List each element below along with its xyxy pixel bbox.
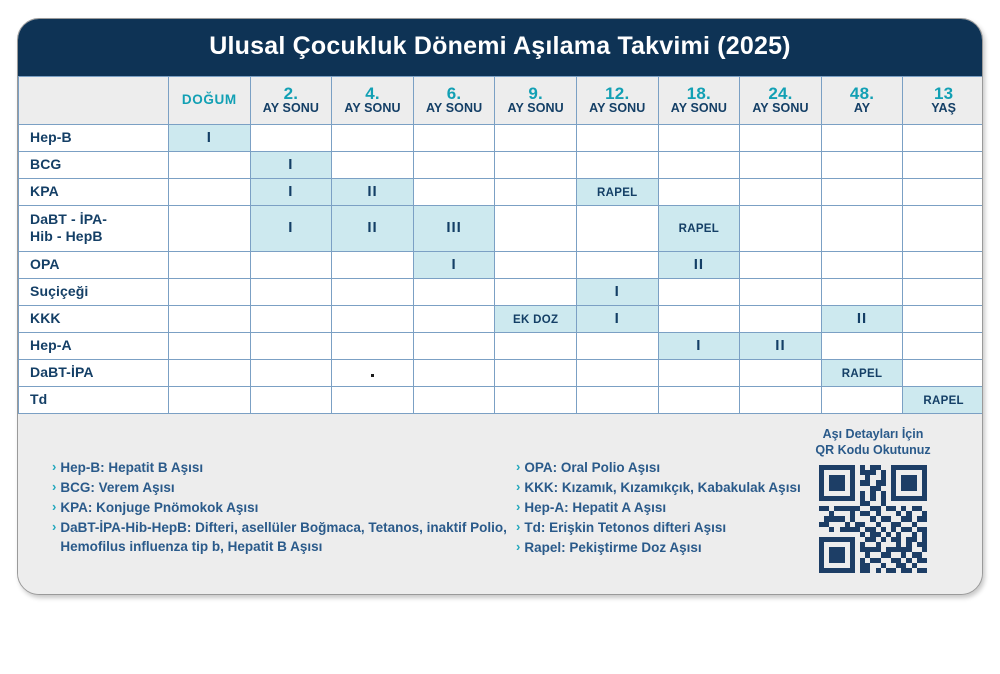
schedule-card: Ulusal Çocukluk Dönemi Aşılama Takvimi (… <box>17 18 983 595</box>
column-header-number: 6. <box>414 85 495 103</box>
empty-cell <box>169 251 251 278</box>
empty-cell <box>658 305 740 332</box>
column-header-unit: AY SONU <box>414 102 495 115</box>
empty-cell <box>576 251 658 278</box>
column-header-2-ay: 2.AY SONU <box>250 76 332 124</box>
empty-cell <box>332 124 414 151</box>
empty-cell <box>250 332 332 359</box>
empty-cell <box>821 205 903 251</box>
rapel-marker: RAPEL <box>923 395 963 407</box>
empty-cell <box>250 359 332 386</box>
legend-item: ›Hep-B: Hepatit B Aşısı <box>52 458 510 477</box>
rapel-marker: RAPEL <box>679 223 719 235</box>
empty-cell <box>495 359 577 386</box>
legend-item: ›Td: Erişkin Tetonos difteri Aşısı <box>516 518 846 537</box>
dose-cell: I <box>169 124 251 151</box>
vaccine-name-cell: DaBT - İPA-Hib - HepB <box>19 205 169 251</box>
empty-cell <box>169 359 251 386</box>
dose-marker: I <box>207 129 212 146</box>
empty-cell <box>413 124 495 151</box>
dose-cell: II <box>658 251 740 278</box>
table-header-corner <box>19 76 169 124</box>
column-header-unit: AY SONU <box>495 102 576 115</box>
dose-marker: II <box>857 310 867 327</box>
empty-cell <box>658 386 740 413</box>
dose-marker: I <box>615 310 620 327</box>
empty-cell <box>740 178 822 205</box>
empty-cell <box>332 332 414 359</box>
vaccine-name-cell: Hep-B <box>19 124 169 151</box>
empty-cell <box>495 205 577 251</box>
dose-marker: III <box>446 219 462 236</box>
table-row: KKKEK DOZIII <box>19 305 984 332</box>
table-row: DaBT - İPA-Hib - HepBIIIIIIRAPEL <box>19 205 984 251</box>
legend-item: ›BCG: Verem Aşısı <box>52 478 510 497</box>
column-header-48-ay: 48.AY <box>821 76 903 124</box>
empty-cell <box>576 151 658 178</box>
dose-cell: RAPEL <box>821 359 903 386</box>
empty-cell <box>495 332 577 359</box>
empty-cell <box>169 305 251 332</box>
empty-cell <box>903 178 983 205</box>
column-header-unit: YAŞ <box>903 102 983 115</box>
table-row: Hep-BI <box>19 124 984 151</box>
dose-cell: RAPEL <box>658 205 740 251</box>
vaccine-name-cell: DaBT-İPA <box>19 359 169 386</box>
dose-cell: I <box>658 332 740 359</box>
empty-cell <box>740 151 822 178</box>
dose-marker: I <box>451 256 456 273</box>
vaccine-name-cell: Hep-A <box>19 332 169 359</box>
vaccination-schedule-table: DOĞUM2.AY SONU4.AY SONU6.AY SONU9.AY SON… <box>18 76 983 414</box>
legend-item: ›KKK: Kızamık, Kızamıkçık, Kabakulak Aşı… <box>516 478 846 497</box>
empty-cell <box>169 386 251 413</box>
empty-cell <box>658 124 740 151</box>
dose-cell: RAPEL <box>903 386 983 413</box>
column-header-6-ay: 6.AY SONU <box>413 76 495 124</box>
empty-cell <box>495 251 577 278</box>
column-header-number: 4. <box>332 85 413 103</box>
empty-cell <box>903 251 983 278</box>
legend-item: ›DaBT-İPA-Hib-HepB: Difteri, asellüler B… <box>52 518 510 556</box>
dose-marker: I <box>615 283 620 300</box>
column-header-number: 48. <box>822 85 903 103</box>
column-header-label: DOĞUM <box>169 93 250 107</box>
column-header-number: 24. <box>740 85 821 103</box>
empty-cell <box>169 151 251 178</box>
empty-cell <box>658 359 740 386</box>
empty-cell <box>332 278 414 305</box>
column-header-9-ay: 9.AY SONU <box>495 76 577 124</box>
empty-cell <box>332 251 414 278</box>
empty-cell <box>169 205 251 251</box>
dose-marker: I <box>696 337 701 354</box>
dose-cell: I <box>576 305 658 332</box>
rapel-marker: RAPEL <box>842 368 882 380</box>
empty-cell <box>740 305 822 332</box>
empty-cell <box>903 359 983 386</box>
empty-cell <box>576 386 658 413</box>
column-header-18-ay: 18.AY SONU <box>658 76 740 124</box>
dose-marker: II <box>694 256 704 273</box>
empty-cell <box>740 278 822 305</box>
empty-cell <box>821 151 903 178</box>
table-row: SuçiçeğiI <box>19 278 984 305</box>
empty-cell <box>658 178 740 205</box>
empty-cell <box>413 386 495 413</box>
empty-cell <box>821 278 903 305</box>
legend-item: ›KPA: Konjuge Pnömokok Aşısı <box>52 498 510 517</box>
empty-cell <box>658 278 740 305</box>
column-header-4-ay: 4.AY SONU <box>332 76 414 124</box>
qr-code-icon[interactable] <box>819 465 927 573</box>
empty-cell <box>740 359 822 386</box>
column-header-unit: AY SONU <box>659 102 740 115</box>
dose-cell: I <box>250 151 332 178</box>
dose-cell: I <box>576 278 658 305</box>
chevron-right-icon: › <box>516 458 520 476</box>
column-header-number: 13 <box>903 85 983 103</box>
legend-item-label: DaBT-İPA-Hib-HepB: Difteri, asellüler Bo… <box>60 518 510 556</box>
dose-marker: I <box>288 219 293 236</box>
column-header-unit: AY SONU <box>577 102 658 115</box>
column-header-number: 2. <box>251 85 332 103</box>
chevron-right-icon: › <box>52 498 56 516</box>
empty-cell <box>740 124 822 151</box>
empty-cell <box>903 305 983 332</box>
legend-item: ›Hep-A: Hepatit A Aşısı <box>516 498 846 517</box>
empty-cell <box>169 332 251 359</box>
empty-cell <box>332 359 414 386</box>
legend-column-left: ›Hep-B: Hepatit B Aşısı›BCG: Verem Aşısı… <box>40 458 510 559</box>
chevron-right-icon: › <box>52 518 56 536</box>
chevron-right-icon: › <box>52 478 56 496</box>
dose-cell: I <box>250 178 332 205</box>
empty-cell <box>821 124 903 151</box>
chevron-right-icon: › <box>516 498 520 516</box>
empty-cell <box>169 278 251 305</box>
dose-marker: II <box>775 337 785 354</box>
vaccine-name-cell: BCG <box>19 151 169 178</box>
empty-cell <box>576 124 658 151</box>
stray-dot-icon <box>371 374 374 377</box>
legend-item-label: Hep-B: Hepatit B Aşısı <box>60 458 510 477</box>
table-row: BCGI <box>19 151 984 178</box>
vaccine-name-cell: Td <box>19 386 169 413</box>
column-header-unit: AY SONU <box>251 102 332 115</box>
dose-cell: I <box>250 205 332 251</box>
empty-cell <box>740 251 822 278</box>
column-header-number: 18. <box>659 85 740 103</box>
legend-item: ›Rapel: Pekiştirme Doz Aşısı <box>516 538 846 557</box>
dose-cell: II <box>740 332 822 359</box>
legend-item-label: KPA: Konjuge Pnömokok Aşısı <box>60 498 510 517</box>
vaccine-name-cell: Suçiçeği <box>19 278 169 305</box>
column-header-number: 12. <box>577 85 658 103</box>
table-row: KPAIIIRAPEL <box>19 178 984 205</box>
dose-marker: I <box>288 183 293 200</box>
dose-marker: I <box>288 156 293 173</box>
qr-caption-line1: Aşı Detayları İçin <box>823 427 924 441</box>
page-title: Ulusal Çocukluk Dönemi Aşılama Takvimi (… <box>18 19 982 76</box>
dose-cell: I <box>413 251 495 278</box>
empty-cell <box>740 386 822 413</box>
empty-cell <box>413 305 495 332</box>
empty-cell <box>250 278 332 305</box>
empty-cell <box>903 332 983 359</box>
legend-item-label: BCG: Verem Aşısı <box>60 478 510 497</box>
rapel-marker: RAPEL <box>597 187 637 199</box>
chevron-right-icon: › <box>516 478 520 496</box>
column-header-unit: AY SONU <box>740 102 821 115</box>
vaccine-name-cell: KPA <box>19 178 169 205</box>
table-row: DaBT-İPARAPEL <box>19 359 984 386</box>
empty-cell <box>576 359 658 386</box>
empty-cell <box>903 151 983 178</box>
dose-marker: II <box>367 183 377 200</box>
legend-column-right: ›OPA: Oral Polio Aşısı›KKK: Kızamık, Kız… <box>516 458 846 559</box>
table-header-row: DOĞUM2.AY SONU4.AY SONU6.AY SONU9.AY SON… <box>19 76 984 124</box>
table-row: Hep-AIII <box>19 332 984 359</box>
empty-cell <box>495 124 577 151</box>
dose-cell: RAPEL <box>576 178 658 205</box>
column-header-unit: AY SONU <box>332 102 413 115</box>
table-body: Hep-BIBCGIKPAIIIRAPELDaBT - İPA-Hib - He… <box>19 124 984 413</box>
chevron-right-icon: › <box>516 538 520 556</box>
empty-cell <box>903 205 983 251</box>
column-header-number: 9. <box>495 85 576 103</box>
qr-block: Aşı Detayları İçin QR Kodu Okutunuz <box>798 426 948 574</box>
empty-cell <box>821 332 903 359</box>
column-header-24-ay: 24.AY SONU <box>740 76 822 124</box>
empty-cell <box>495 178 577 205</box>
empty-cell <box>332 386 414 413</box>
vaccine-name-cell: OPA <box>19 251 169 278</box>
table-row: TdRAPEL <box>19 386 984 413</box>
empty-cell <box>413 332 495 359</box>
ekdoz-marker: EK DOZ <box>513 314 558 326</box>
empty-cell <box>495 386 577 413</box>
empty-cell <box>903 124 983 151</box>
page-root: Ulusal Çocukluk Dönemi Aşılama Takvimi (… <box>0 0 1000 674</box>
empty-cell <box>250 305 332 332</box>
vaccine-name-cell: KKK <box>19 305 169 332</box>
chevron-right-icon: › <box>516 518 520 536</box>
empty-cell <box>332 151 414 178</box>
empty-cell <box>821 178 903 205</box>
empty-cell <box>740 205 822 251</box>
empty-cell <box>658 151 740 178</box>
dose-cell: EK DOZ <box>495 305 577 332</box>
dose-cell: III <box>413 205 495 251</box>
column-header-12-ay: 12.AY SONU <box>576 76 658 124</box>
table-header: DOĞUM2.AY SONU4.AY SONU6.AY SONU9.AY SON… <box>19 76 984 124</box>
empty-cell <box>332 305 414 332</box>
empty-cell <box>413 278 495 305</box>
empty-cell <box>250 251 332 278</box>
empty-cell <box>250 386 332 413</box>
empty-cell <box>821 251 903 278</box>
qr-caption-line2: QR Kodu Okutunuz <box>815 443 930 457</box>
empty-cell <box>903 278 983 305</box>
dose-marker: II <box>367 219 377 236</box>
column-header-dogum: DOĞUM <box>169 76 251 124</box>
empty-cell <box>413 359 495 386</box>
empty-cell <box>169 178 251 205</box>
dose-cell: II <box>821 305 903 332</box>
qr-module <box>922 568 927 573</box>
empty-cell <box>576 332 658 359</box>
empty-cell <box>250 124 332 151</box>
chevron-right-icon: › <box>52 458 56 476</box>
qr-caption: Aşı Detayları İçin QR Kodu Okutunuz <box>798 426 948 459</box>
empty-cell <box>413 151 495 178</box>
dose-cell: II <box>332 205 414 251</box>
legend-item: ›OPA: Oral Polio Aşısı <box>516 458 846 477</box>
empty-cell <box>495 278 577 305</box>
empty-cell <box>495 151 577 178</box>
column-header-13-yas: 13YAŞ <box>903 76 983 124</box>
table-row: OPAIII <box>19 251 984 278</box>
empty-cell <box>576 205 658 251</box>
dose-cell: II <box>332 178 414 205</box>
footer-area: Aşı Detayları İçin QR Kodu Okutunuz ›Hep… <box>18 414 982 594</box>
empty-cell <box>821 386 903 413</box>
empty-cell <box>413 178 495 205</box>
column-header-unit: AY <box>822 102 903 115</box>
